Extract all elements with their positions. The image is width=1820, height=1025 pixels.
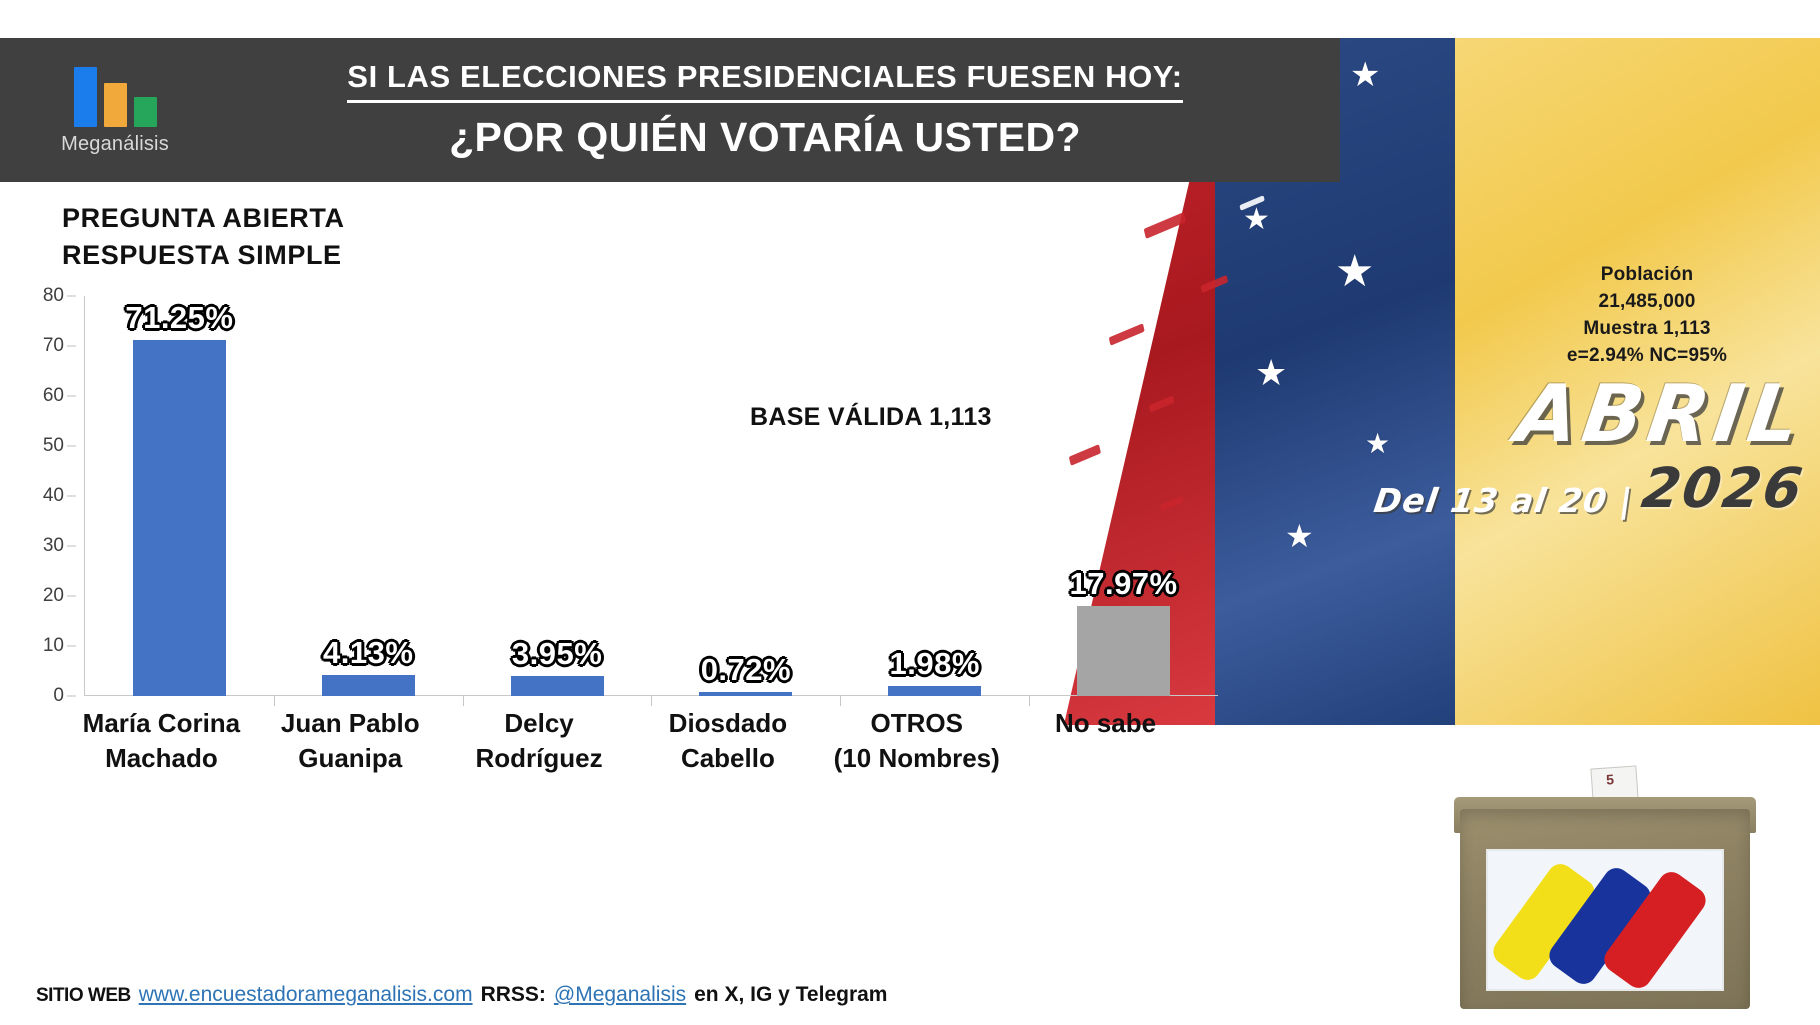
category-label-line1: Diosdado (633, 706, 822, 741)
bar-value-label: 4.13% (323, 635, 413, 671)
y-axis-tick-mark (67, 396, 76, 397)
category-label: DiosdadoCabello (633, 706, 822, 776)
chart-column: 0.72% (651, 296, 840, 696)
survey-date-block: ABRIL Del 13 al 20 | 2026 (1346, 368, 1816, 518)
category-label-line2: Rodríguez (445, 741, 634, 776)
y-axis-tick-mark (67, 496, 76, 497)
chart-bar[interactable]: 1.98% (888, 686, 981, 696)
base-valida-annotation: BASE VÁLIDA 1,113 (750, 403, 992, 432)
y-axis-tick-label: 0 (53, 685, 64, 707)
kicker-line-1: PREGUNTA ABIERTA (62, 200, 345, 237)
chart-column: 17.97% (1029, 296, 1218, 696)
header-title-line1: SI LAS ELECCIONES PRESIDENCIALES FUESEN … (347, 59, 1182, 103)
y-axis-tick-label: 10 (43, 635, 64, 657)
y-axis-tick-mark (67, 446, 76, 447)
category-label-line2: Machado (67, 741, 256, 776)
error-margin-value: e=2.94% NC=95% (1482, 343, 1812, 370)
chart-column: 3.95% (463, 296, 652, 696)
survey-date-range: Del 13 al 20 | (1372, 481, 1636, 520)
category-label-line2: Guanipa (256, 741, 445, 776)
category-labels: María CorinaMachadoJuan PabloGuanipaDelc… (67, 706, 1200, 776)
bar-value-label: 1.98% (890, 646, 980, 682)
poblacion-label: Población (1482, 262, 1812, 289)
category-label-line2: Cabello (633, 741, 822, 776)
ballot-slip-number: 5 (1606, 771, 1615, 788)
y-axis-tick-mark (67, 296, 76, 297)
category-label-line2: (10 Nombres) (822, 741, 1011, 776)
header-title-line2: ¿POR QUIÉN VOTARÍA USTED? (230, 114, 1300, 161)
y-axis-tick-mark (67, 346, 76, 347)
bar-value-label: 3.95% (512, 636, 602, 672)
chart-column: 71.25% (85, 296, 274, 696)
chart-bar[interactable]: 3.95% (511, 676, 604, 696)
poblacion-value: 21,485,000 (1482, 289, 1812, 316)
brand-logo: Meganálisis (0, 65, 230, 156)
y-axis-tick-label: 40 (43, 485, 64, 507)
chart-column: 1.98% (840, 296, 1029, 696)
y-axis-tick-label: 30 (43, 535, 64, 557)
category-label: DelcyRodríguez (445, 706, 634, 776)
chart-bar[interactable]: 71.25% (133, 340, 226, 696)
y-axis-tick-label: 60 (43, 385, 64, 407)
chart-bar[interactable]: 0.72% (699, 692, 792, 696)
kicker-line-2: RESPUESTA SIMPLE (62, 237, 345, 274)
bar-value-label: 0.72% (701, 652, 791, 688)
ballot-box-label (1486, 849, 1724, 991)
category-label-line1: Delcy (445, 706, 634, 741)
category-label-line1: María Corina (67, 706, 256, 741)
chart-column: 4.13% (274, 296, 463, 696)
y-axis: 80706050403020100 (18, 296, 84, 696)
y-axis-tick-label: 20 (43, 585, 64, 607)
y-axis-tick-mark (67, 646, 76, 647)
y-axis-tick-label: 80 (43, 285, 64, 307)
chart-bar[interactable]: 4.13% (322, 675, 415, 696)
bar-value-label: 71.25% (125, 300, 233, 336)
vote-intention-bar-chart: 80706050403020100 71.25%4.13%3.95%0.72%1… (18, 296, 1218, 696)
category-label: María CorinaMachado (67, 706, 256, 776)
muestra-value: Muestra 1,113 (1482, 316, 1812, 343)
category-label-line1: OTROS (822, 706, 1011, 741)
ballot-box-illustration: 5 (1452, 767, 1762, 1017)
bar-value-label: 17.97% (1069, 566, 1177, 602)
sample-info-panel: Población 21,485,000 Muestra 1,113 e=2.9… (1482, 262, 1812, 370)
y-axis-tick-mark (67, 696, 76, 697)
footer-site-label: SITIO WEB (36, 985, 131, 1007)
y-axis-tick-mark (67, 546, 76, 547)
header-bar: Meganálisis SI LAS ELECCIONES PRESIDENCI… (0, 38, 1340, 182)
y-axis-tick-label: 70 (43, 335, 64, 357)
footer: SITIO WEB www.encuestadorameganalisis.co… (36, 983, 887, 1007)
bar-chart-logo-icon (74, 65, 157, 127)
survey-date-row: Del 13 al 20 | 2026 (1372, 456, 1809, 520)
footer-rrss-label: RRSS: (481, 983, 546, 1007)
y-axis-tick-label: 50 (43, 435, 64, 457)
header-titles: SI LAS ELECCIONES PRESIDENCIALES FUESEN … (230, 59, 1340, 161)
footer-networks: en X, IG y Telegram (694, 983, 887, 1007)
question-type-note: PREGUNTA ABIERTA RESPUESTA SIMPLE (62, 200, 345, 275)
y-axis-tick-mark (67, 596, 76, 597)
plot-area: 71.25%4.13%3.95%0.72%1.98%17.97% (85, 296, 1218, 696)
survey-year: 2026 (1638, 456, 1808, 520)
category-label: Juan PabloGuanipa (256, 706, 445, 776)
footer-website-link[interactable]: www.encuestadorameganalisis.com (139, 983, 473, 1007)
brand-name: Meganálisis (61, 133, 169, 156)
category-label: No sabe (1011, 706, 1200, 776)
category-label-line1: No sabe (1011, 706, 1200, 741)
infographic-root: ★ ★ ★ ★ ★ ★ ★ (0, 0, 1820, 1025)
category-label: OTROS(10 Nombres) (822, 706, 1011, 776)
top-white-margin (0, 0, 1820, 38)
category-label-line1: Juan Pablo (256, 706, 445, 741)
survey-month: ABRIL (1511, 368, 1811, 460)
footer-social-handle[interactable]: @Meganalisis (554, 983, 686, 1007)
chart-bar[interactable]: 17.97% (1077, 606, 1170, 696)
